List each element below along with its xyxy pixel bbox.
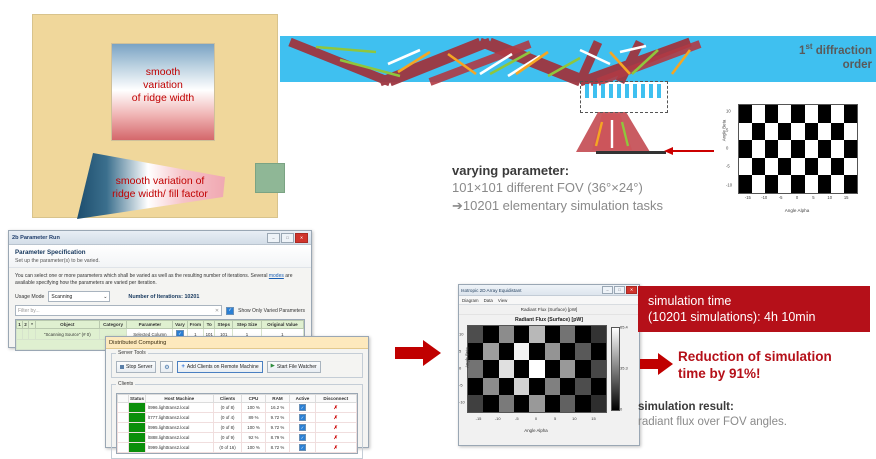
active-cell[interactable]: ✓ <box>290 423 315 433</box>
heatmap-cell <box>778 105 792 123</box>
iterations-info: Number of Iterations: 10201 <box>128 294 199 300</box>
heatmap-cell <box>765 175 779 193</box>
heatmap-cell <box>778 140 792 158</box>
host-machine: lt995.lighttrans2.local <box>146 423 214 433</box>
x-tick-label: 0 <box>796 195 798 200</box>
heatmap-cell <box>765 140 779 158</box>
close-button[interactable]: ✕ <box>295 233 308 243</box>
parameter-run-titlebar[interactable]: 2b Parameter Run – □ ✕ <box>9 231 311 245</box>
heatmap-cell <box>844 140 858 158</box>
green-region-square <box>255 163 285 193</box>
heatmap-cell <box>831 105 845 123</box>
cpu-usage: 100 % <box>242 423 265 433</box>
heatmap-cell <box>529 343 545 361</box>
heatmap-cell <box>545 343 561 361</box>
y-tick-label: 5 <box>459 348 461 353</box>
heatmap-cell <box>752 123 766 141</box>
heatmap-cell <box>591 378 607 396</box>
simulation-result-title: simulation result: <box>638 400 874 415</box>
diffraction-order-text: 1st diffractionorder <box>799 45 872 71</box>
heatmap-cell <box>483 378 499 396</box>
clients-table[interactable]: Status Host Machine Clients CPU RAM Acti… <box>116 393 358 454</box>
result-window-subtitle: Radiant Flux (Surface) [pW] <box>459 305 639 315</box>
active-checkbox[interactable]: ✓ <box>299 404 306 411</box>
heatmap-cell <box>545 378 561 396</box>
row-object: "Scanning Source" (# 0) <box>36 329 100 340</box>
ram-usage: 9.72 % <box>265 423 290 433</box>
heatmap-cell <box>591 395 607 413</box>
heatmap-cell <box>483 326 499 344</box>
status-indicator <box>129 413 146 423</box>
heatmap-cell <box>529 378 545 396</box>
disconnect-icon[interactable]: ✗ <box>334 435 338 441</box>
disconnect-cell[interactable]: ✗ <box>315 423 357 433</box>
y-tick-label: 0 <box>726 146 728 151</box>
heatmap-cell <box>529 395 545 413</box>
client-count: (0 of 8) <box>213 403 242 413</box>
active-cell[interactable]: ✓ <box>290 403 315 413</box>
y-tick-label: -5 <box>459 383 463 388</box>
parameter-specification-title: Parameter Specification <box>15 249 305 256</box>
disconnect-cell[interactable]: ✗ <box>315 433 357 443</box>
heatmap-cell <box>818 105 832 123</box>
clients-col-host: Host Machine <box>146 395 214 403</box>
fov-checkerboard-chart: Angle Beta Angle Alpha -15-10-5051015105… <box>716 98 866 220</box>
heatmap-cell <box>591 360 607 378</box>
param-col-category: Category <box>99 321 127 329</box>
heatmap-cell <box>499 360 515 378</box>
param-col-to: To <box>204 321 215 329</box>
varying-parameter-line2: ➔10201 elementary simulation tasks <box>452 197 722 215</box>
y-tick-label: -10 <box>726 182 732 187</box>
heatmap-cell <box>818 158 832 176</box>
usage-mode-select[interactable]: Scanning ⌄ <box>48 291 110 302</box>
heatmap-cell <box>791 123 805 141</box>
parameter-specification-header: Parameter Specification Set up the param… <box>9 245 311 268</box>
heatmap-cell <box>791 140 805 158</box>
heatmap-cell <box>575 360 591 378</box>
heatmap-cell <box>514 343 530 361</box>
heatmap-cell <box>739 175 753 193</box>
plus-icon: + <box>181 364 185 370</box>
fill-factor-label: smooth variation of ridge width/ fill fa… <box>85 175 235 201</box>
server-tools-group: Server Tools Stop Server ⚙ + Add Clients… <box>111 353 363 378</box>
result-x-axis-label: Angle Alpha <box>467 428 605 433</box>
heatmap-cell <box>778 123 792 141</box>
disconnect-cell[interactable]: ✗ <box>315 443 357 453</box>
heatmap-cell <box>529 360 545 378</box>
detector-plane-line <box>596 151 666 154</box>
play-icon: ▶ <box>271 364 275 370</box>
heatmap-cell <box>831 175 845 193</box>
heatmap-cell <box>778 158 792 176</box>
heatmap-cell <box>575 343 591 361</box>
usage-mode-row: Usage Mode Scanning ⌄ Number of Iteratio… <box>9 290 311 304</box>
heatmap-cell <box>752 140 766 158</box>
param-col-step-size: Step Size <box>233 321 262 329</box>
table-row[interactable]: lt777.lighttrans2.local(0 of 4)89 %9.72 … <box>118 413 357 423</box>
ram-usage: 9.72 % <box>265 413 290 423</box>
heatmap-cell <box>791 175 805 193</box>
row-select[interactable] <box>118 413 129 423</box>
disconnect-cell[interactable]: ✗ <box>315 403 357 413</box>
heatmap-cell <box>805 140 819 158</box>
result-window[interactable]: Isotropic 2D Array Equidistant – □ ✕ Dia… <box>458 284 640 446</box>
filter-row: Filter by... ✕ ✓ Show Only Varied Parame… <box>9 304 311 318</box>
heatmap-cell <box>468 395 484 413</box>
heatmap-cell <box>805 105 819 123</box>
y-tick-label: 5 <box>726 127 728 132</box>
heatmap-cell <box>575 326 591 344</box>
heatmap-cell <box>499 343 515 361</box>
distributed-computing-titlebar[interactable]: Distributed Computing <box>106 337 368 349</box>
heatmap-cell <box>844 158 858 176</box>
heatmap-cell <box>468 326 484 344</box>
parameter-table-header-row: 1 2 * Object Category Parameter Vary Fro… <box>17 321 304 329</box>
result-close-button[interactable]: ✕ <box>626 286 637 294</box>
heatmap-cell <box>483 360 499 378</box>
cpu-usage: 89 % <box>242 413 265 423</box>
heatmap-cell <box>468 360 484 378</box>
client-count: (0 of 9) <box>213 433 242 443</box>
client-count: (0 of 16) <box>213 443 242 453</box>
menu-item-view[interactable]: View <box>498 298 507 303</box>
heatmap-cell <box>514 378 530 396</box>
iterations-label: Number of Iterations: <box>128 294 183 300</box>
row-select[interactable] <box>118 423 129 433</box>
status-indicator <box>129 433 146 443</box>
row-col-star <box>29 329 36 340</box>
add-clients-button[interactable]: + Add Clients on Remote Machine <box>177 361 262 373</box>
disconnect-icon[interactable]: ✗ <box>334 425 338 431</box>
table-row[interactable]: lt996.lighttrans2.local(0 of 8)100 %16.2… <box>118 403 357 413</box>
table-row[interactable]: lt999.lighttrans2.local(0 of 16)100 %8.7… <box>118 443 357 453</box>
x-tick-label: -15 <box>476 416 482 421</box>
heatmap-cell <box>545 395 561 413</box>
ridge-width-label: smooth variation of ridge width <box>112 66 214 105</box>
heatmap-cell <box>545 326 561 344</box>
host-machine: lt888.lighttrans2.local <box>146 433 214 443</box>
clients-col-ram: RAM <box>265 395 290 403</box>
y-tick-label: -10 <box>459 400 465 405</box>
param-col-from: From <box>187 321 204 329</box>
radiant-flux-colorbar <box>611 327 620 411</box>
x-tick-label: -10 <box>761 195 767 200</box>
y-tick-label: 0 <box>459 366 461 371</box>
x-tick-label: -5 <box>779 195 783 200</box>
heatmap-cell <box>575 395 591 413</box>
disconnect-icon[interactable]: ✗ <box>334 405 338 411</box>
heatmap-cell <box>560 326 576 344</box>
row-select[interactable] <box>118 443 129 453</box>
x-tick-label: 15 <box>591 416 595 421</box>
client-count: (0 of 4) <box>213 413 242 423</box>
y-tick-label: 10 <box>459 331 463 336</box>
colorbar-tick-label: 65.4 <box>620 325 628 330</box>
clients-col-active: Active <box>290 395 315 403</box>
param-col-star: * <box>29 321 36 329</box>
host-machine: lt999.lighttrans2.local <box>146 443 214 453</box>
active-checkbox[interactable]: ✓ <box>299 424 306 431</box>
heatmap-cell <box>514 360 530 378</box>
active-cell[interactable]: ✓ <box>290 413 315 423</box>
x-tick-label: 5 <box>554 416 556 421</box>
ridge-label-line2: variation <box>112 79 214 92</box>
simulation-time-callout: simulation time (10201 simulations): 4h … <box>638 286 870 332</box>
distributed-computing-window[interactable]: Distributed Computing Server Tools Stop … <box>105 336 369 448</box>
simulation-time-line1: simulation time <box>648 293 860 309</box>
outcoupling-grating-box <box>580 81 668 113</box>
param-col-object: Object <box>36 321 100 329</box>
simulation-result-description: radiant flux over FOV angles. <box>638 415 874 430</box>
heatmap-cell <box>560 395 576 413</box>
disconnect-icon[interactable]: ✗ <box>334 415 338 421</box>
heatmap-cell <box>844 105 858 123</box>
active-checkbox[interactable]: ✓ <box>299 444 306 451</box>
start-file-watcher-label: Start File Watcher <box>277 364 317 370</box>
table-row[interactable]: lt888.lighttrans2.local(0 of 9)92 %8.79 … <box>118 433 357 443</box>
x-tick-label: 10 <box>827 195 832 200</box>
simulation-time-line2: (10201 simulations): 4h 10min <box>648 309 860 325</box>
maximize-button[interactable]: □ <box>281 233 294 243</box>
y-tick-label: -5 <box>726 164 730 169</box>
fov-plot-area <box>738 104 858 194</box>
filter-placeholder: Filter by... <box>18 308 40 314</box>
grating-illustration-panel: smooth variation of ridge width smooth v… <box>32 14 278 218</box>
status-indicator <box>129 423 146 433</box>
ram-usage: 8.79 % <box>265 433 290 443</box>
heatmap-cell <box>529 326 545 344</box>
result-maximize-button[interactable]: □ <box>614 286 625 294</box>
disconnect-icon[interactable]: ✗ <box>334 445 338 451</box>
result-plot-title: Radiant Flux (Surface) [pW] <box>459 315 639 324</box>
heatmap-cell <box>739 158 753 176</box>
simulation-result-block: simulation result: radiant flux over FOV… <box>638 400 874 430</box>
heatmap-cell <box>739 105 753 123</box>
host-machine: lt996.lighttrans2.local <box>146 403 214 413</box>
result-minimize-button[interactable]: – <box>602 286 613 294</box>
heatmap-cell <box>560 360 576 378</box>
varying-parameter-line1: 101×101 different FOV (36°×24°) <box>452 179 722 197</box>
heatmap-cell <box>468 378 484 396</box>
cpu-usage: 92 % <box>242 433 265 443</box>
clients-header-row: Status Host Machine Clients CPU RAM Acti… <box>118 395 357 403</box>
chevron-down-icon: ⌄ <box>103 294 107 300</box>
heatmap-cell <box>739 123 753 141</box>
menu-item-diagram[interactable]: Diagram <box>462 298 479 303</box>
cpu-usage: 100 % <box>242 443 265 453</box>
heatmap-cell <box>791 105 805 123</box>
clients-col-disconnect: Disconnect <box>315 395 357 403</box>
param-col-original-value: Original Value <box>261 321 303 329</box>
heatmap-cell <box>560 378 576 396</box>
param-col-steps: Steps <box>215 321 233 329</box>
row-select[interactable] <box>118 403 129 413</box>
parameter-specification-subtitle: Set up the parameter(s) to be varied. <box>15 258 305 264</box>
status-indicator <box>129 403 146 413</box>
modes-link[interactable]: modes <box>269 273 284 279</box>
menu-item-data[interactable]: Data <box>484 298 493 303</box>
active-cell[interactable]: ✓ <box>290 443 315 453</box>
clients-col-cpu: CPU <box>242 395 265 403</box>
detector-to-plot-arrow <box>664 146 716 156</box>
heatmap-cell <box>483 343 499 361</box>
parameter-run-title: 2b Parameter Run <box>12 235 267 241</box>
heatmap-cell <box>468 343 484 361</box>
params-to-result-arrow <box>395 338 443 368</box>
heatmap-cell <box>591 326 607 344</box>
heatmap-cell <box>752 105 766 123</box>
heatmap-cell <box>791 158 805 176</box>
heatmap-cell <box>739 140 753 158</box>
param-col-vary: Vary <box>173 321 187 329</box>
fill-factor-line2: ridge width/ fill factor <box>85 188 235 201</box>
x-tick-label: 15 <box>844 195 849 200</box>
distributed-computing-title: Distributed Computing <box>109 340 166 346</box>
server-settings-button[interactable]: ⚙ <box>160 361 173 373</box>
gear-icon: ⚙ <box>164 364 169 371</box>
start-file-watcher-button[interactable]: ▶ Start File Watcher <box>267 361 321 373</box>
clients-group-title: Clients <box>116 381 135 387</box>
clients-col-status: Status <box>129 395 146 403</box>
usage-mode-value: Scanning <box>51 294 72 300</box>
reduction-line1: Reduction of simulation <box>678 348 870 365</box>
heatmap-cell <box>818 123 832 141</box>
filter-input[interactable]: Filter by... ✕ <box>15 305 222 316</box>
host-machine: lt777.lighttrans2.local <box>146 413 214 423</box>
heatmap-cell <box>575 378 591 396</box>
parameter-run-window[interactable]: 2b Parameter Run – □ ✕ Parameter Specifi… <box>8 230 312 348</box>
heatmap-cell <box>560 343 576 361</box>
minimize-button[interactable]: – <box>267 233 280 243</box>
heatmap-cell <box>765 158 779 176</box>
result-y-axis-label: Angle Beta <box>465 336 470 380</box>
heatmap-cell <box>844 123 858 141</box>
active-cell[interactable]: ✓ <box>290 433 315 443</box>
ridge-label-line3: of ridge width <box>112 92 214 105</box>
show-varied-checkbox[interactable]: ✓ <box>226 307 234 315</box>
reduction-callout: Reduction of simulation time by 91%! <box>678 348 870 382</box>
cpu-usage: 100 % <box>242 403 265 413</box>
heatmap-cell <box>765 123 779 141</box>
heatmap-cell <box>778 175 792 193</box>
description-part-a: You can select one or more parameters wh… <box>15 273 269 279</box>
radiant-flux-plot-area <box>467 325 607 413</box>
fov-x-axis-label: Angle Alpha <box>738 208 856 213</box>
varying-parameter-block: varying parameter: 101×101 different FOV… <box>452 162 722 215</box>
heatmap-cell <box>752 175 766 193</box>
parameter-run-description: You can select one or more parameters wh… <box>9 268 311 290</box>
x-tick-label: 10 <box>572 416 576 421</box>
heatmap-cell <box>483 395 499 413</box>
clients-col-clients: Clients <box>213 395 242 403</box>
heatmap-cell <box>545 360 561 378</box>
heatmap-cell <box>844 175 858 193</box>
ridge-width-gradient-block: smooth variation of ridge width <box>111 43 215 141</box>
y-tick-label: 10 <box>726 109 731 114</box>
heatmap-cell <box>831 123 845 141</box>
heatmap-cell <box>818 140 832 158</box>
usage-mode-label: Usage Mode <box>15 294 44 300</box>
ram-usage: 8.72 % <box>265 443 290 453</box>
x-tick-label: -5 <box>515 416 519 421</box>
clients-col-blank <box>118 395 129 403</box>
colorbar-tick-label: 0 <box>620 407 622 412</box>
heatmap-cell <box>805 123 819 141</box>
param-col-parameter: Parameter <box>127 321 173 329</box>
show-varied-label: Show Only Varied Parameters <box>238 308 305 314</box>
ram-usage: 16.2 % <box>265 403 290 413</box>
stop-server-button[interactable]: Stop Server <box>116 361 156 373</box>
heatmap-cell <box>499 378 515 396</box>
add-clients-label: Add Clients on Remote Machine <box>187 364 259 370</box>
server-tools-group-title: Server Tools <box>116 350 148 356</box>
result-window-menubar[interactable]: Diagram Data View <box>459 296 639 305</box>
heatmap-cell <box>514 326 530 344</box>
stop-icon <box>120 365 124 369</box>
status-indicator <box>129 443 146 453</box>
row-select[interactable] <box>118 433 129 443</box>
heatmap-cell <box>514 395 530 413</box>
x-tick-label: 0 <box>535 416 537 421</box>
clear-filter-icon[interactable]: ✕ <box>215 308 219 314</box>
colorbar-tick-label: 35.3 <box>620 366 628 371</box>
client-count: (0 of 8) <box>213 423 242 433</box>
disconnect-cell[interactable]: ✗ <box>315 413 357 423</box>
heatmap-cell <box>818 175 832 193</box>
x-tick-label: 5 <box>812 195 814 200</box>
heatmap-cell <box>499 326 515 344</box>
heatmap-cell <box>805 158 819 176</box>
table-row[interactable]: lt995.lighttrans2.local(0 of 8)100 %9.72… <box>118 423 357 433</box>
heatmap-cell <box>805 175 819 193</box>
active-checkbox[interactable]: ✓ <box>299 434 306 441</box>
result-window-titlebar[interactable]: Isotropic 2D Array Equidistant – □ ✕ <box>459 285 639 296</box>
stop-server-label: Stop Server <box>126 364 152 370</box>
ridge-label-line1: smooth <box>112 66 214 79</box>
heatmap-cell <box>765 105 779 123</box>
heatmap-cell <box>752 158 766 176</box>
x-tick-label: -15 <box>745 195 751 200</box>
heatmap-cell <box>831 158 845 176</box>
fill-factor-line1: smooth variation of <box>85 175 235 188</box>
clients-group: Clients Status Host Machine Clients CPU … <box>111 384 363 459</box>
heatmap-cell <box>831 140 845 158</box>
iterations-value: 10201 <box>184 294 199 300</box>
x-tick-label: -10 <box>495 416 501 421</box>
heatmap-cell <box>591 343 607 361</box>
heatmap-cell <box>499 395 515 413</box>
result-window-title: Isotropic 2D Array Equidistant <box>461 288 602 293</box>
diffraction-order-label: 1st diffractionorder <box>788 40 872 72</box>
varying-parameter-title: varying parameter: <box>452 162 722 179</box>
reduction-line2: time by 91%! <box>678 365 870 382</box>
active-checkbox[interactable]: ✓ <box>299 414 306 421</box>
reduction-arrow <box>640 352 674 376</box>
